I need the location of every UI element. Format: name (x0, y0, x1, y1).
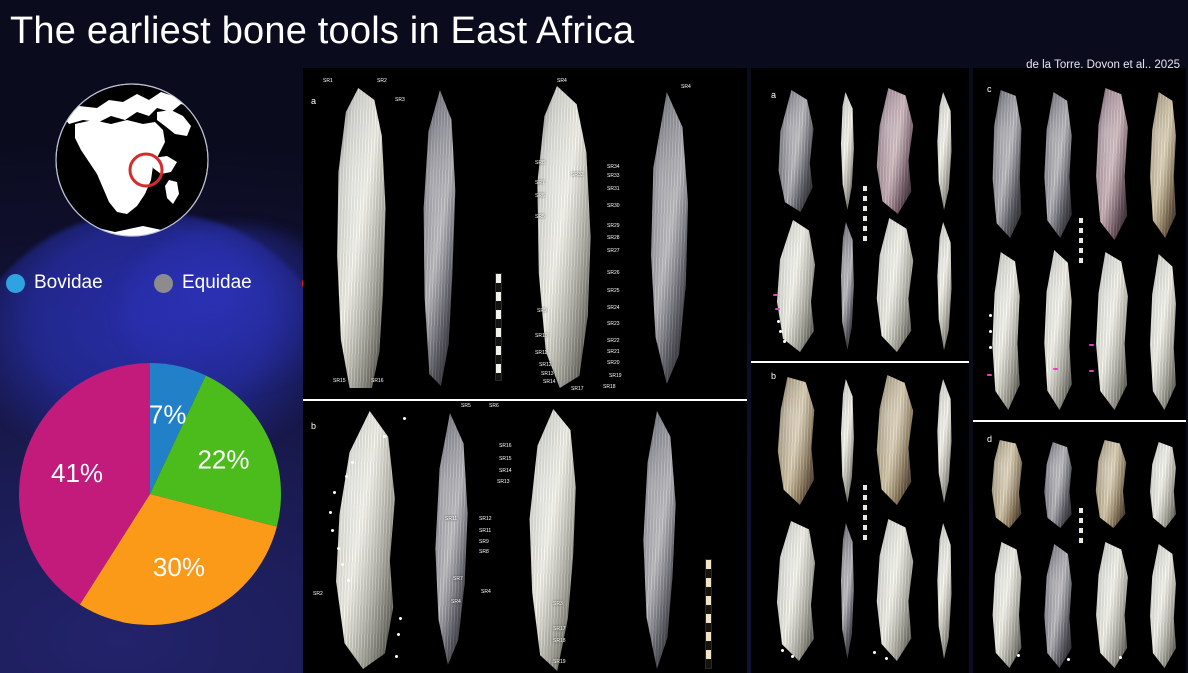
sr-label: SR11 (479, 528, 491, 534)
legend-color-swatch-bovidae (6, 274, 25, 293)
sr-label: SR26 (607, 270, 620, 276)
sr-label: SR11 (535, 350, 547, 356)
sr-label: SR4 (557, 78, 567, 84)
sr-label: SR33 (607, 173, 620, 179)
bone-photo-c-r2c4 (1145, 254, 1181, 410)
sr-label: SR21 (607, 349, 620, 355)
bone-photo-b-r2c3 (871, 519, 919, 661)
panel-middle[interactable]: a b (751, 68, 969, 673)
bone-scan-b-view4 (633, 411, 685, 669)
legend-label-bovidae: Bovidae (34, 272, 103, 294)
sr-label: SR4 (481, 589, 491, 595)
sr-label: SR14 (499, 468, 512, 474)
sr-label: SR12 (479, 516, 492, 522)
bone-photo-b-r1c3 (871, 375, 919, 505)
bone-photo-a-r1c1 (773, 90, 819, 212)
sr-label: SR15 (333, 378, 346, 384)
sr-label: SR17 (553, 626, 566, 632)
sr-label: SR16 (499, 443, 512, 449)
sr-label: SR4 (681, 84, 691, 90)
sr-label: SR3 (553, 601, 563, 607)
bone-photo-a-r1c2 (837, 92, 857, 210)
sr-label: SR19 (553, 659, 566, 665)
bone-scan-b-view2 (425, 413, 477, 665)
bone-photo-d-r1c4 (1145, 442, 1181, 528)
legend-color-swatch-equidae (154, 274, 173, 293)
sr-label: SR18 (553, 638, 566, 644)
sr-label: SR10 (535, 333, 548, 339)
sr-label: SR19 (609, 373, 622, 379)
bone-photo-d-r1c2 (1039, 442, 1077, 528)
sr-label: SR8 (535, 160, 545, 166)
sr-label: SR5 (461, 403, 471, 409)
bone-photo-d-r2c2 (1039, 544, 1077, 668)
sr-label: SR16 (371, 378, 384, 384)
panel-right[interactable]: c d (973, 68, 1186, 673)
subpanel-b-middle[interactable]: b (751, 363, 969, 673)
sr-label: SR2 (313, 591, 323, 597)
sr-label: SR20 (607, 360, 620, 366)
sr-label: SR3 (395, 97, 405, 103)
sr-label: SR34 (607, 164, 620, 170)
sr-label: SR12 (539, 362, 552, 368)
bone-photo-b-r1c4 (933, 379, 955, 503)
subpanel-tag-b: b (771, 371, 776, 381)
scale-bar-right-d (1079, 508, 1083, 544)
bone-photo-a-r2c2 (837, 222, 857, 350)
sr-label: SR30 (607, 203, 620, 209)
sr-label: SR7 (453, 576, 463, 582)
subpanel-tag-c: c (987, 84, 992, 94)
globe-africa-icon (53, 62, 211, 258)
scale-bar-b (705, 559, 712, 669)
sr-label: SR24 (607, 305, 620, 311)
figure-panel-group: a SR1 SR2 SR3 SR4 SR4 SR8 SR7 SR6 SR5 SR… (303, 68, 1188, 673)
scale-bar-middle-a (863, 186, 867, 244)
sr-label: SR9 (537, 308, 547, 314)
pie-label-other-nid: 41% (51, 458, 103, 488)
bone-photo-d-r2c3 (1091, 542, 1133, 668)
sr-label: SR29 (607, 223, 620, 229)
subpanel-a-left[interactable]: a SR1 SR2 SR3 SR4 SR4 SR8 SR7 SR6 SR5 SR… (303, 68, 747, 399)
sr-label: SR18 (603, 384, 616, 390)
bone-photo-c-r2c3 (1091, 252, 1133, 410)
species-legend: Bovidae Equidae Suidae Hippo Elephantida… (6, 270, 302, 296)
sr-label: SR22 (607, 338, 620, 344)
bone-photo-c-r1c3 (1091, 88, 1133, 240)
scale-bar-middle-b (863, 485, 867, 541)
sr-label: SR15 (499, 456, 512, 462)
sr-label: SR32 (571, 172, 584, 178)
bone-scan-a-view2 (415, 90, 463, 386)
bone-photo-d-r1c1 (987, 440, 1027, 528)
bone-photo-a-r1c3 (871, 88, 919, 214)
bone-scan-a-view4 (641, 92, 697, 384)
sr-label: SR14 (543, 379, 556, 385)
bone-photo-a-r2c4 (933, 222, 955, 350)
sr-label: SR7 (535, 180, 545, 186)
legend-label-equidae: Equidae (182, 272, 252, 294)
bone-photo-c-r2c2 (1039, 250, 1077, 410)
pie-label-elephantidae: 30% (153, 552, 205, 582)
sr-label: SR13 (497, 479, 510, 485)
sr-label: SR31 (607, 186, 620, 192)
sr-label: SR6 (489, 403, 499, 409)
bone-scan-a-view3 (529, 86, 599, 388)
bone-photo-b-r2c2 (837, 523, 857, 659)
bone-photo-c-r1c2 (1039, 92, 1077, 238)
bone-photo-b-r2c4 (933, 523, 955, 659)
scale-bar-a (495, 273, 502, 381)
panel-left[interactable]: a SR1 SR2 SR3 SR4 SR4 SR8 SR7 SR6 SR5 SR… (303, 68, 747, 673)
sr-label: SR11 (445, 516, 457, 522)
subpanel-c-right[interactable]: c (973, 68, 1186, 420)
sr-label: SR5 (535, 214, 545, 220)
subpanel-d-right[interactable]: d (973, 422, 1186, 673)
bone-photo-b-r1c2 (837, 379, 857, 503)
bone-scan-a-view1 (331, 88, 393, 388)
sr-label: SR4 (451, 599, 461, 605)
subpanel-tag-b: b (311, 421, 316, 431)
sr-label: SR6 (535, 193, 545, 199)
scale-bar-right-c (1079, 218, 1083, 264)
bone-photo-a-r1c4 (933, 92, 955, 210)
bone-photo-d-r2c4 (1145, 544, 1181, 668)
pie-label-bovidae: 7% (149, 400, 187, 430)
bone-photo-a-r2c3 (871, 218, 919, 352)
sr-label: SR13 (541, 371, 554, 377)
sr-label: SR1 (323, 78, 333, 84)
sr-label: SR25 (607, 288, 620, 294)
sr-label: SR23 (607, 321, 620, 327)
sr-label: SR8 (479, 549, 489, 555)
bone-photo-c-r1c4 (1145, 92, 1181, 238)
bone-photo-d-r1c3 (1091, 440, 1131, 528)
bone-photo-c-r1c1 (987, 90, 1027, 238)
taxa-pie-chart: 7%22%30%41% (18, 362, 282, 626)
bone-scan-b-view3 (519, 409, 585, 671)
slide-title: The earliest bone tools in East Africa (10, 10, 634, 53)
globe-inset (53, 62, 211, 258)
sr-label: SR28 (607, 235, 620, 241)
sr-label: SR2 (377, 78, 387, 84)
subpanel-a-middle[interactable]: a (751, 68, 969, 361)
subpanel-tag-d: d (987, 434, 992, 444)
bone-photo-b-r1c1 (773, 377, 821, 505)
bone-scan-b-view1 (321, 411, 405, 669)
bone-photo-b-r2c1 (771, 521, 821, 661)
pie-chart-svg: 7%22%30%41% (18, 362, 282, 626)
sr-label: SR9 (479, 539, 489, 545)
presentation-slide: The earliest bone tools in East Africa d… (0, 0, 1188, 673)
bone-photo-d-r2c1 (987, 542, 1027, 668)
legend-item-bovidae[interactable]: Bovidae (6, 272, 154, 294)
legend-item-equidae[interactable]: Equidae (154, 272, 302, 294)
bone-photo-c-r2c1 (987, 252, 1025, 410)
subpanel-tag-a: a (771, 90, 776, 100)
sr-label: SR27 (607, 248, 620, 254)
pie-label-hippo: 22% (197, 444, 249, 474)
sr-label: SR17 (571, 386, 584, 392)
subpanel-tag-a: a (311, 96, 316, 106)
subpanel-b-left[interactable]: b SR5 SR6 SR16 SR15 SR14 SR13 SR12 SR11 … (303, 401, 747, 673)
